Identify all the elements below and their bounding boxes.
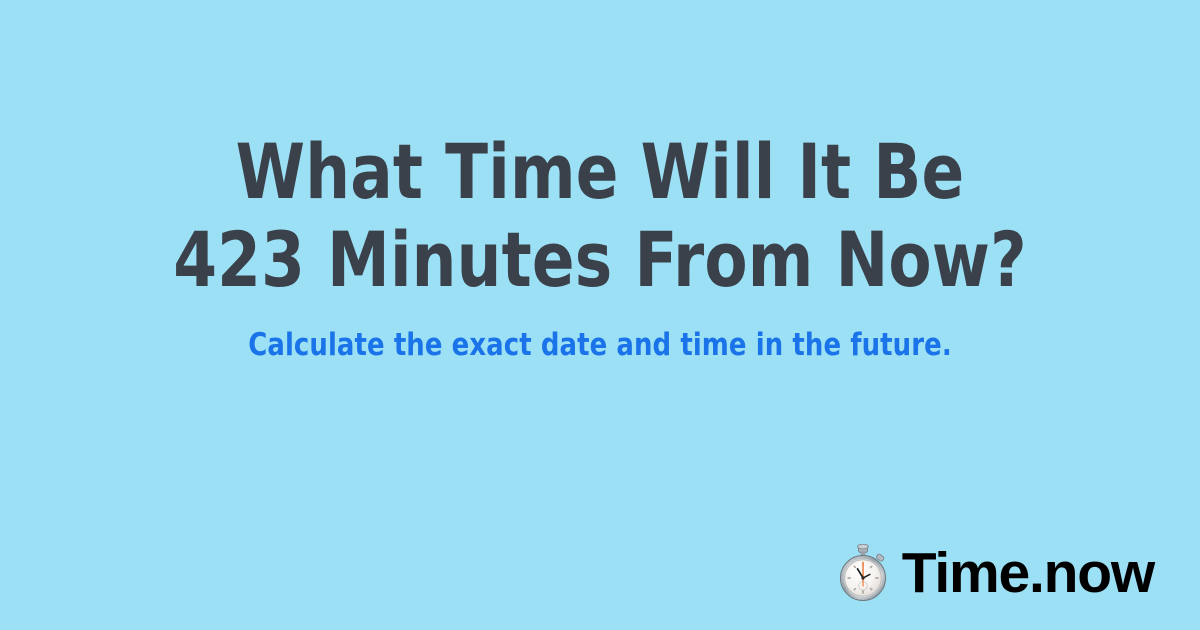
stopwatch-icon [836, 544, 890, 602]
page-title: What Time Will It Be 423 Minutes From No… [48, 128, 1152, 304]
share-card: What Time Will It Be 423 Minutes From No… [0, 0, 1200, 630]
hero-section: What Time Will It Be 423 Minutes From No… [0, 128, 1200, 364]
page-title-line-2: 423 Minutes From Now? [48, 216, 1152, 304]
brand-logo[interactable]: Time.now [836, 544, 1154, 602]
page-title-line-1: What Time Will It Be [48, 128, 1152, 216]
page-subtitle: Calculate the exact date and time in the… [42, 326, 1158, 364]
brand-name: Time.now [902, 544, 1154, 602]
